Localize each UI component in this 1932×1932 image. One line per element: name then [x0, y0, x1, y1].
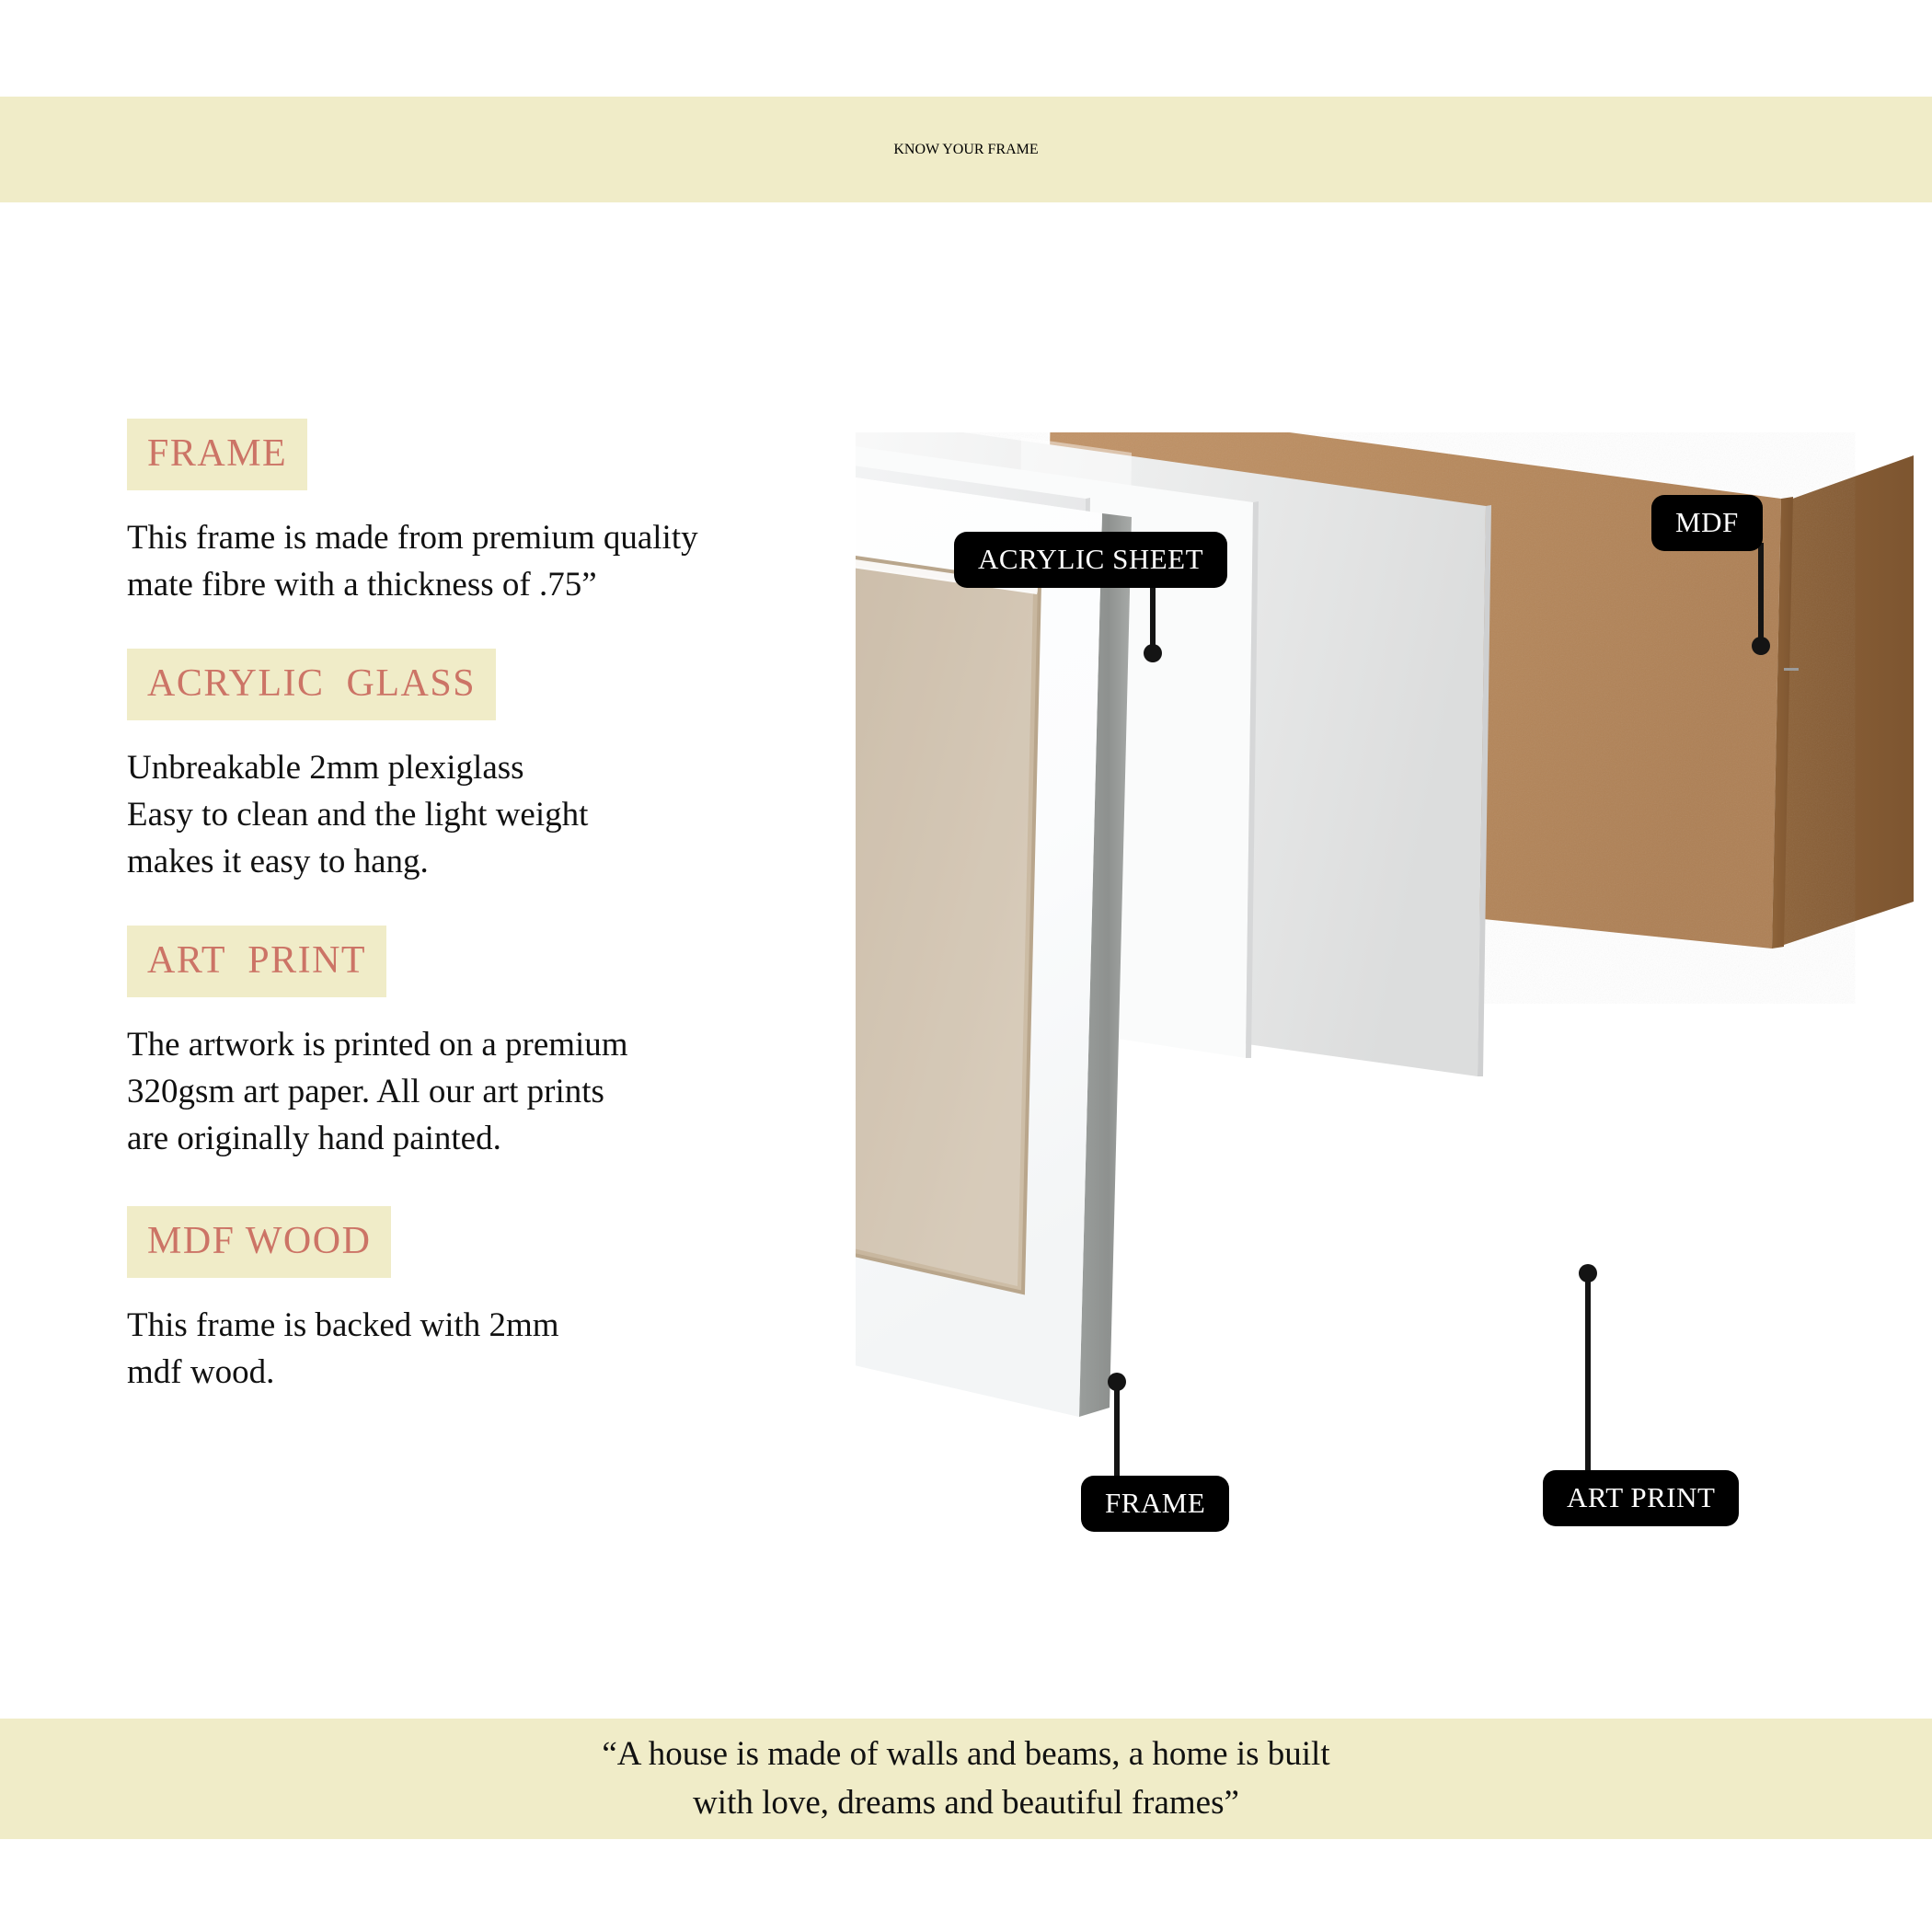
- frame-leader-line: [1114, 1380, 1120, 1483]
- section-art-print: ART PRINT The artwork is printed on a pr…: [127, 926, 891, 1162]
- callout-acrylic-sheet[interactable]: ACRYLIC SHEET: [954, 532, 1227, 588]
- callout-frame[interactable]: FRAME: [1081, 1476, 1229, 1532]
- exploded-frame-illustration: [856, 432, 1914, 1582]
- callout-mdf[interactable]: MDF: [1651, 495, 1763, 551]
- section-frame-heading: FRAME: [127, 419, 307, 490]
- section-frame-body: This frame is made from premium quality …: [127, 514, 891, 608]
- content-column: FRAME This frame is made from premium qu…: [127, 419, 891, 1396]
- footer-quote-banner: “A house is made of walls and beams, a h…: [0, 1719, 1932, 1839]
- section-frame: FRAME This frame is made from premium qu…: [127, 419, 891, 608]
- mdf-leader-line: [1758, 543, 1764, 644]
- section-acrylic-glass: ACRYLIC GLASS Unbreakable 2mm plexiglass…: [127, 649, 891, 885]
- footer-quote-line-1: “A house is made of walls and beams, a h…: [602, 1731, 1329, 1779]
- section-mdf-wood: MDF WOOD This frame is backed with 2mm m…: [127, 1206, 891, 1396]
- art-print-leader-dot: [1579, 1264, 1597, 1282]
- section-art-print-body: The artwork is printed on a premium 320g…: [127, 1021, 891, 1162]
- callout-art-print[interactable]: ART PRINT: [1543, 1470, 1739, 1526]
- footer-quote-line-2: with love, dreams and beautiful frames”: [693, 1779, 1239, 1828]
- section-mdf-wood-body: This frame is backed with 2mm mdf wood.: [127, 1302, 891, 1396]
- section-acrylic-glass-body: Unbreakable 2mm plexiglass Easy to clean…: [127, 744, 891, 885]
- section-acrylic-glass-heading: ACRYLIC GLASS: [127, 649, 496, 720]
- header-banner: KNOW YOUR FRAME: [0, 97, 1932, 202]
- frame-leader-dot: [1108, 1373, 1126, 1391]
- art-print-leader-line: [1585, 1271, 1591, 1478]
- acrylic-sheet-leader-dot: [1144, 644, 1162, 662]
- section-mdf-wood-heading: MDF WOOD: [127, 1206, 391, 1278]
- page-title: KNOW YOUR FRAME: [893, 142, 1038, 158]
- section-art-print-heading: ART PRINT: [127, 926, 386, 997]
- mdf-leader-dot: [1752, 637, 1770, 655]
